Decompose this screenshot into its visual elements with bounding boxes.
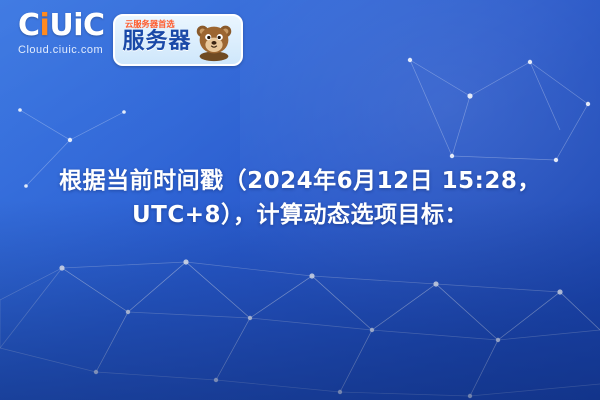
server-badge[interactable]: 云服务器首选 服务器: [113, 14, 243, 66]
banner-image: CiUiC Cloud.ciuic.com 云服务器首选 服务器: [0, 0, 600, 400]
logo-subtitle: Cloud.ciuic.com: [18, 44, 103, 56]
badge-main-text: 服务器: [123, 29, 192, 55]
mascot-bear-icon: [191, 17, 237, 63]
logo-wordmark-part2: i: [40, 8, 50, 43]
logo-wordmark: CiUiC: [18, 10, 105, 42]
logo-text-block: CiUiC Cloud.ciuic.com: [18, 10, 105, 56]
logo-wordmark-part3: UiC: [49, 8, 104, 43]
brand-logo[interactable]: CiUiC Cloud.ciuic.com 云服务器首选 服务器: [18, 10, 243, 66]
banner-headline: 根据当前时间戳（2024年6月12日 15:28，UTC+8），计算动态选项目标…: [0, 164, 600, 232]
logo-wordmark-part1: C: [18, 8, 40, 43]
